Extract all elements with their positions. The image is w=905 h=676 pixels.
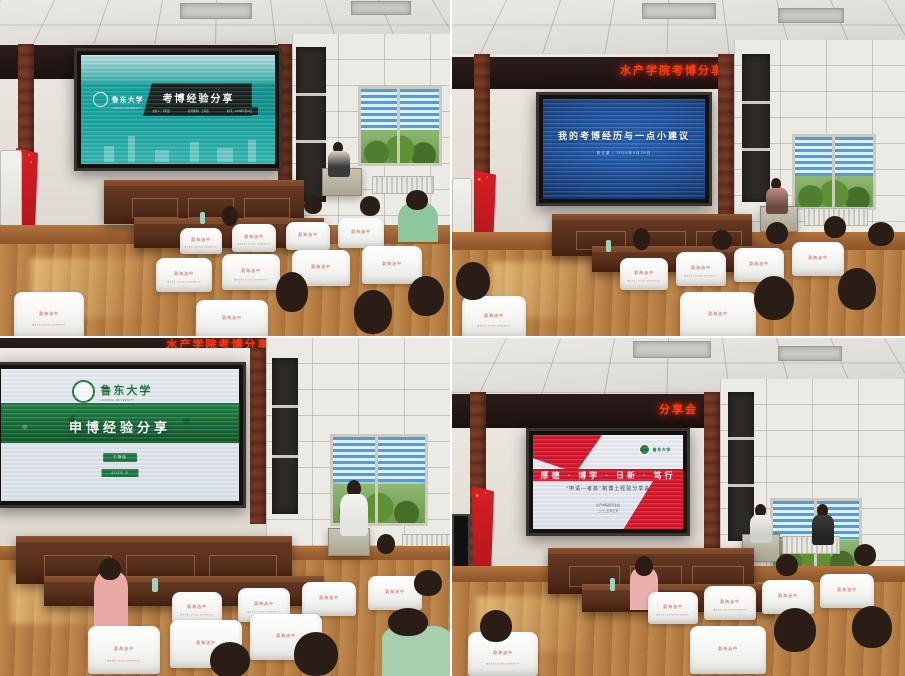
attendee	[348, 290, 400, 338]
chair-mark: 渤海油中	[837, 587, 857, 593]
photo-collage: 水产学院考博分享会 鲁东大学 LUDONG UNIVERSITY	[0, 0, 905, 676]
window-mullion	[832, 137, 835, 207]
slide-title: 我的考博经历与一点小建议	[543, 129, 705, 142]
attendee	[270, 272, 314, 338]
window-mullion	[375, 437, 378, 523]
chair-mark: 渤海油中	[241, 268, 261, 274]
seat: 渤海油中 鲁东大学 LUDONG UNIVERSITY	[88, 626, 160, 674]
water-bottle	[606, 240, 611, 252]
chair-mark: 渤海油中	[319, 595, 339, 601]
speaker	[750, 504, 772, 540]
ceiling-light	[351, 1, 411, 15]
chair-submark: 鲁东大学 LUDONG UNIVERSITY	[477, 325, 510, 328]
desk-top	[548, 550, 754, 554]
attendee	[848, 606, 904, 676]
chair-mark: 渤海油中	[254, 601, 274, 607]
slide-footer-line1: 水产学院研究生会	[533, 503, 683, 507]
attendee	[382, 626, 452, 676]
radiator	[372, 176, 434, 194]
window-mullion	[397, 89, 400, 163]
slide-teal: 鲁东大学 LUDONG UNIVERSITY 考博经验分享 主讲人：李明哲 指导…	[81, 55, 275, 164]
projection-screen: 鲁东大学 LUDONG UNIVERSITY 考博经验分享 主讲人：李明哲 指导…	[74, 48, 282, 171]
slide-red-white: 鲁东大学 厚德 · 博学 · 日新 · 笃行 “申请—考核”制博士经验分享会 水…	[533, 435, 683, 529]
attendee	[772, 554, 806, 586]
screen-content: 我的考博经历与一点小建议 陈文豪 | 2025年5月20日	[543, 99, 705, 199]
window-blinds	[361, 89, 439, 132]
slide-red-shape-top	[533, 435, 602, 473]
chair-mark: 渤海油中	[39, 311, 59, 317]
slide-footer-line2: 二〇二五年五月	[533, 509, 683, 513]
attendee	[832, 268, 886, 338]
chair-mark: 渤海油中	[718, 646, 738, 652]
projection-screen: 鲁东大学 LUDONG UNIVERSITY 申博经验分享 于静瑶 2025.5	[0, 362, 246, 508]
university-name: 鲁东大学	[100, 385, 152, 397]
projection-screen: 我的考博经历与一点小建议 陈文豪 | 2025年5月20日	[536, 92, 712, 206]
attendee	[762, 222, 796, 254]
chair-mark: 渤海油中	[808, 255, 828, 261]
chair-mark: 渤海油中	[749, 261, 769, 267]
seal-icon	[639, 444, 650, 455]
attendee	[748, 276, 804, 338]
desk-top	[16, 538, 292, 542]
chair-mark: 渤海油中	[493, 650, 513, 656]
speaker	[766, 178, 788, 212]
ceiling-light	[778, 346, 842, 361]
collage-panel-1: 水产学院考博分享会 鲁东大学 LUDONG UNIVERSITY	[0, 0, 452, 338]
screen-content: 鲁东大学 LUDONG UNIVERSITY 考博经验分享 主讲人：李明哲 指导…	[81, 55, 275, 164]
speaker	[340, 480, 368, 534]
attendee	[452, 262, 496, 312]
ceiling-light	[778, 8, 844, 23]
window-blinds	[333, 437, 425, 482]
seat: 渤海油中 鲁东大学 LUDONG UNIVERSITY	[704, 586, 756, 620]
seat: 渤海油中	[690, 626, 766, 674]
chair-mark: 渤海油中	[222, 315, 242, 321]
screen-content: 鲁东大学 厚德 · 博学 · 日新 · 笃行 “申请—考核”制博士经验分享会 水…	[533, 435, 683, 529]
chair-submark: 鲁东大学 LUDONG UNIVERSITY	[237, 243, 270, 246]
chair-mark: 渤海油中	[708, 311, 728, 317]
collage-panel-2: 水产学院考博分享会 我的考博经历与一点小建议 陈文豪 | 2025年5月20日	[452, 0, 905, 338]
desk-top	[104, 182, 304, 186]
slide-motto: 厚德 · 博学 · 日新 · 笃行	[533, 470, 683, 481]
chair-submark: 鲁东大学 LUDONG UNIVERSITY	[684, 275, 717, 278]
conference-room-scene: 分享会 鲁东大学 厚德 · 博学 · 日新 · 笃行 “申请—考核”制博士经验	[452, 338, 905, 676]
chair-mark: 渤海油中	[187, 604, 207, 610]
seat: 渤海油中 鲁东大学 LUDONG UNIVERSITY	[180, 228, 222, 254]
chair-mark: 渤海油中	[691, 265, 711, 271]
ceiling-light	[633, 341, 711, 358]
chair-submark: 鲁东大学 LUDONG UNIVERSITY	[713, 609, 746, 612]
chair-mark: 渤海油中	[778, 593, 798, 599]
speaker-body	[328, 151, 350, 177]
university-logo: 鲁东大学	[639, 444, 671, 455]
collage-panel-4: 分享会 鲁东大学 厚德 · 博学 · 日新 · 笃行 “申请—考核”制博士经验	[452, 338, 905, 676]
seat: 渤海油中 鲁东大学 LUDONG UNIVERSITY	[620, 258, 668, 290]
attendee	[288, 632, 348, 676]
national-flag: ★ ★	[472, 486, 494, 576]
water-bottle	[200, 212, 205, 224]
slide-skyline	[81, 120, 275, 164]
seat: 渤海油中	[196, 300, 268, 338]
chair-submark: 鲁东大学 LUDONG UNIVERSITY	[656, 614, 689, 617]
seat: 渤海油中	[302, 582, 356, 616]
chair-mark: 渤海油中	[484, 313, 504, 319]
slide-badge: 时间：2025年5月20日	[222, 107, 258, 115]
slide-badge: 指导教师：王海涛	[183, 107, 214, 115]
water-bottle	[610, 578, 615, 591]
speaker-body	[340, 494, 368, 536]
seat: 渤海油中 鲁东大学 LUDONG UNIVERSITY	[14, 292, 84, 338]
collage-panel-3: 水产学院考博分享会 鲁东大学 LUDONG UNIVERSITY	[0, 338, 452, 676]
university-name: 鲁东大学	[112, 97, 144, 104]
chair-mark: 渤海油中	[385, 589, 405, 595]
attendee	[476, 610, 518, 646]
attendee	[94, 572, 128, 626]
seat: 渤海油中 鲁东大学 LUDONG UNIVERSITY	[648, 592, 698, 624]
chair-submark: 鲁东大学 LUDONG UNIVERSITY	[234, 278, 267, 281]
slide-badge: 主讲人：李明哲	[147, 107, 175, 115]
chair-submark: 鲁东大学 LUDONG UNIVERSITY	[486, 662, 519, 665]
wall-pilaster	[718, 54, 734, 222]
ceiling-light	[642, 3, 716, 19]
university-name: 鲁东大学	[653, 447, 671, 453]
seat: 渤海油中 鲁东大学 LUDONG UNIVERSITY	[156, 258, 212, 292]
chair-mark: 渤海油中	[382, 261, 402, 267]
seal-icon	[72, 380, 95, 403]
chair-mark: 渤海油中	[191, 237, 211, 243]
slide-title: 申博经验分享	[1, 417, 239, 436]
wall-niche	[272, 358, 298, 513]
attendee	[408, 570, 452, 614]
wall-pilaster	[704, 392, 720, 568]
speaker	[328, 142, 350, 176]
chair-submark: 鲁东大学 LUDONG UNIVERSITY	[180, 614, 213, 617]
slide-title: 考博经验分享	[162, 90, 234, 105]
desk-top	[44, 578, 324, 582]
slide-presenter-chip: 于静瑶	[103, 453, 137, 462]
projection-screen: 鲁东大学 厚德 · 博学 · 日新 · 笃行 “申请—考核”制博士经验分享会 水…	[526, 428, 690, 536]
attendee	[356, 196, 390, 230]
chair-mark: 渤海油中	[174, 271, 194, 277]
wall-pilaster	[250, 348, 266, 524]
window	[358, 86, 442, 166]
university-logo: 鲁东大学 LUDONG UNIVERSITY	[93, 89, 144, 110]
chair-mark: 渤海油中	[720, 599, 740, 605]
chair-mark: 渤海油中	[663, 604, 683, 610]
slide-subtitle: “申请—考核”制博士经验分享会	[533, 485, 683, 492]
university-name-en: LUDONG UNIVERSITY	[112, 107, 144, 110]
attendee	[206, 642, 260, 676]
university-name-en: LUDONG UNIVERSITY	[100, 399, 152, 402]
slide-blue: 我的考博经历与一点小建议 陈文豪 | 2025年5月20日	[543, 99, 705, 199]
attendee	[372, 534, 402, 570]
chair-mark: 渤海油中	[244, 234, 264, 240]
seat: 渤海油中	[680, 292, 756, 338]
seal-icon	[93, 92, 108, 107]
window-greenery	[361, 130, 439, 163]
university-logo: 鲁东大学 LUDONG UNIVERSITY	[72, 380, 152, 403]
slide-subtitle: 陈文豪 | 2025年5月20日	[543, 151, 705, 156]
seat: 渤海油中	[820, 574, 874, 608]
chair-mark: 渤海油中	[351, 229, 371, 235]
seat: 渤海油中	[286, 222, 330, 250]
window	[792, 134, 876, 210]
attendee	[818, 216, 854, 252]
attendee	[768, 608, 826, 676]
attendee	[708, 230, 738, 260]
slide-badges: 主讲人：李明哲 指导教师：王海涛 时间：2025年5月20日	[147, 107, 258, 115]
speaker-body	[766, 188, 788, 214]
chair-mark: 渤海油中	[114, 646, 134, 652]
slide-green-campus: 鲁东大学 LUDONG UNIVERSITY 申博经验分享 于静瑶 2025.5	[1, 369, 239, 501]
ceiling-light	[180, 3, 252, 19]
slide-date-chip: 2025.5	[102, 469, 139, 477]
attendee	[862, 222, 904, 266]
water-bottle	[152, 578, 158, 592]
conference-room-scene: 水产学院考博分享会 鲁东大学 LUDONG UNIVERSITY	[0, 0, 450, 336]
seat: 渤海油中 鲁东大学 LUDONG UNIVERSITY	[232, 224, 276, 252]
attendee	[300, 196, 330, 226]
attendee	[404, 276, 452, 338]
attendee	[850, 544, 886, 578]
screen-content: 鲁东大学 LUDONG UNIVERSITY 申博经验分享 于静瑶 2025.5	[1, 369, 239, 501]
chair-submark: 鲁东大学 LUDONG UNIVERSITY	[32, 324, 65, 327]
conference-room-scene: 水产学院考博分享会 我的考博经历与一点小建议 陈文豪 | 2025年5月20日	[452, 0, 905, 336]
chair-mark: 渤海油中	[298, 232, 318, 238]
desk-top	[552, 216, 752, 220]
conference-room-scene: 水产学院考博分享会 鲁东大学 LUDONG UNIVERSITY	[0, 338, 450, 676]
body	[812, 515, 834, 545]
chair-submark: 鲁东大学 LUDONG UNIVERSITY	[167, 281, 200, 284]
standing-attendee	[812, 504, 834, 544]
chair-mark: 渤海油中	[634, 270, 654, 276]
attendee	[398, 202, 438, 242]
chair-submark: 鲁东大学 LUDONG UNIVERSITY	[627, 280, 660, 283]
chair-submark: 鲁东大学 LUDONG UNIVERSITY	[107, 659, 140, 662]
chair-mark: 渤海油中	[311, 264, 331, 270]
chair-submark: 鲁东大学 LUDONG UNIVERSITY	[184, 245, 217, 248]
speaker-body	[750, 515, 772, 543]
